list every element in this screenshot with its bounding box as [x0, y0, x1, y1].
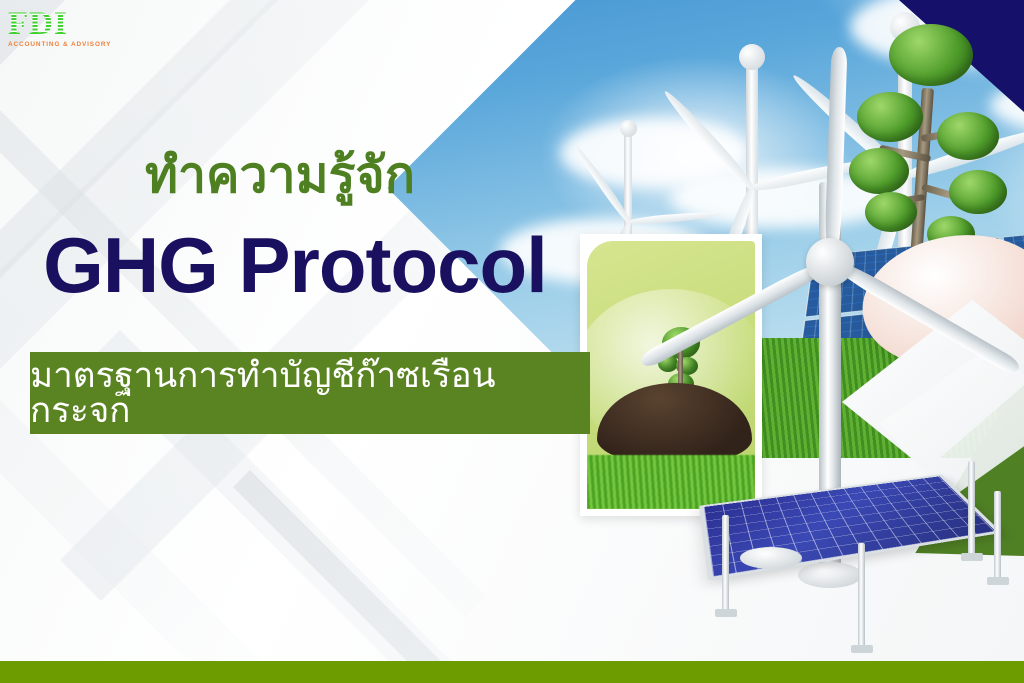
subtitle-banner: มาตรฐานการทำบัญชีก๊าซเรือนกระจก [30, 352, 590, 434]
subtitle-banner-text: มาตรฐานการทำบัญชีก๊าซเรือนกระจก [30, 358, 590, 428]
page-title: GHG Protocol [0, 226, 590, 304]
logo-wordmark: FDI [8, 8, 112, 40]
ground-solar-panel-array [712, 395, 1012, 625]
bottom-accent-bar [0, 661, 1024, 683]
poster-canvas: FDI ACCOUNTING & ADVISORY ทำความรู้จัก G… [0, 0, 1024, 683]
logo-tagline: ACCOUNTING & ADVISORY [8, 41, 112, 48]
fdi-logo[interactable]: FDI ACCOUNTING & ADVISORY [8, 8, 112, 48]
kicker-heading: ทำความรู้จัก [0, 150, 560, 200]
